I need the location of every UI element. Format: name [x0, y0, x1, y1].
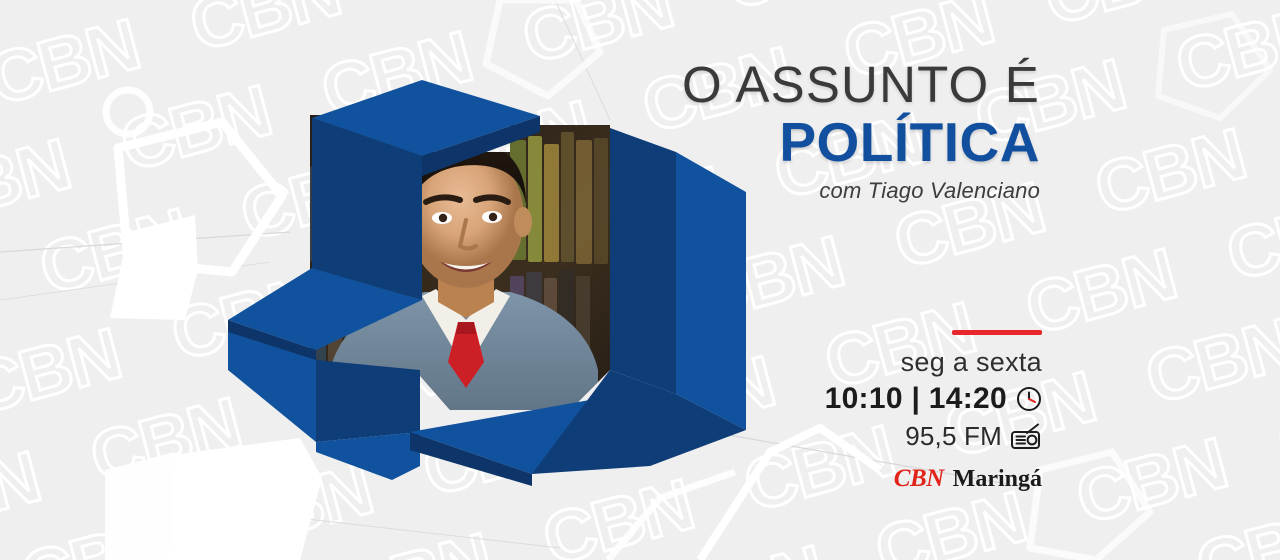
- show-title-line-1: O ASSUNTO É: [520, 58, 1040, 112]
- radio-icon: [1010, 423, 1042, 451]
- headline-block: O ASSUNTO É POLÍTICA com Tiago Valencian…: [520, 58, 1040, 204]
- schedule-frequency-row: 95,5 FM: [722, 421, 1042, 452]
- clock-icon: [1016, 386, 1042, 412]
- schedule-days: seg a sexta: [722, 347, 1042, 378]
- show-title-line-2: POLÍTICA: [520, 114, 1040, 172]
- red-divider: [952, 330, 1042, 335]
- schedule-times-row: 10:10 | 14:20: [722, 382, 1042, 416]
- cbn-maringa-logo: CBN Maringá: [722, 465, 1042, 493]
- cbn-logo-city: Maringá: [953, 466, 1042, 493]
- schedule-block: seg a sexta 10:10 | 14:20 95,5 FM: [722, 330, 1042, 493]
- pinwheel-face-lower-left-inner: [316, 360, 420, 442]
- schedule-frequency: 95,5 FM: [905, 421, 1002, 452]
- schedule-times: 10:10 | 14:20: [825, 382, 1007, 416]
- radio-show-banner: CBNCBNCBNCBNCBNCBNCBN CBNCBNCBNCBNCBNCBN…: [0, 0, 1280, 560]
- cbn-logo-text: CBN: [894, 465, 944, 493]
- show-host-subtitle: com Tiago Valenciano: [520, 178, 1040, 204]
